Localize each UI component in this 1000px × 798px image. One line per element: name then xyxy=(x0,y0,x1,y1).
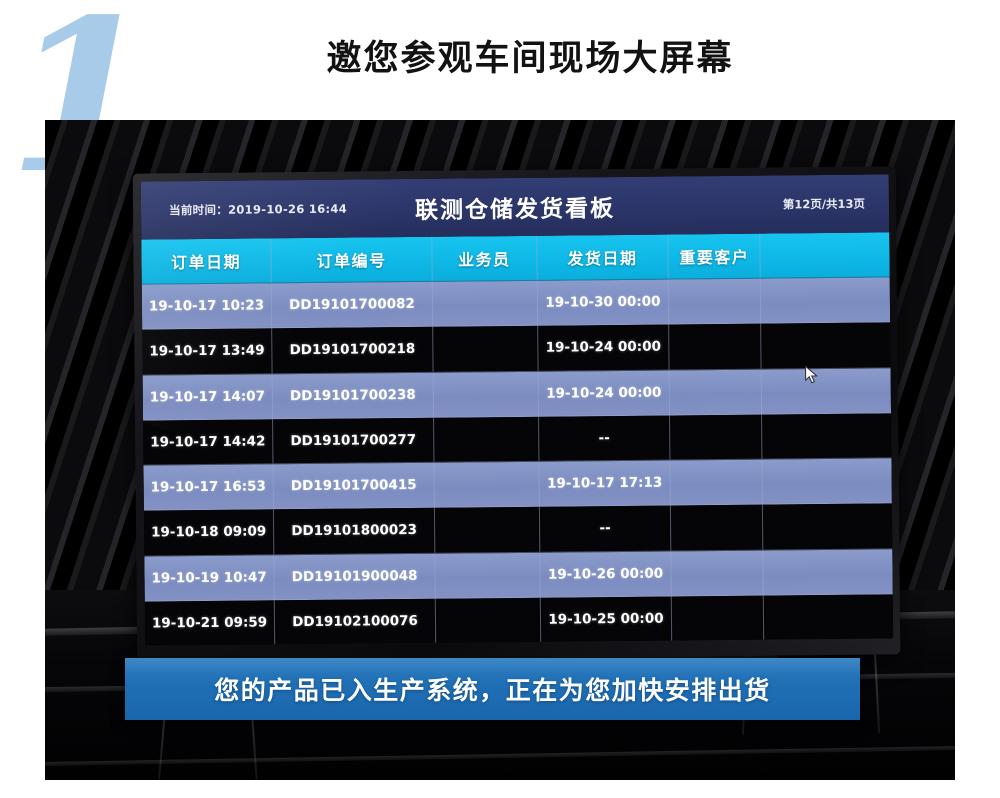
bottom-banner-text: 您的产品已入生产系统，正在为您加快安排出货 xyxy=(214,671,771,707)
table-row: 19-10-17 16:53 DD19101700415 19-10-17 17… xyxy=(143,458,891,510)
cell-order-date: 19-10-17 10:23 xyxy=(142,283,273,328)
cell-order-number: DD19101700277 xyxy=(273,418,434,464)
page-title: 邀您参观车间现场大屏幕 xyxy=(0,30,1000,81)
cell-key-customer xyxy=(670,369,762,414)
display-bezel: 当前时间：2019-10-26 16:44 联测仓储发货看板 第12页/共13页… xyxy=(133,166,901,661)
cell-salesperson xyxy=(435,507,540,552)
cell-order-date: 19-10-17 16:53 xyxy=(143,464,274,509)
cell-ship-date: 19-10-26 00:00 xyxy=(540,551,672,597)
cell-order-date: 19-10-17 13:49 xyxy=(142,329,273,374)
cell-salesperson xyxy=(435,552,540,597)
cell-order-number: DD19101900048 xyxy=(274,553,435,599)
wall-mounted-display: 当前时间：2019-10-26 16:44 联测仓储发货看板 第12页/共13页… xyxy=(133,166,901,661)
cell-extra xyxy=(761,277,890,322)
cell-extra xyxy=(762,413,891,458)
pagination-indicator: 第12页/共13页 xyxy=(783,196,865,213)
cell-order-number: DD19101700415 xyxy=(274,463,435,509)
cell-salesperson xyxy=(434,417,539,462)
table-row: 19-10-21 09:59 DD19102100076 19-10-25 00… xyxy=(145,594,893,645)
cell-ship-date: 19-10-24 00:00 xyxy=(538,325,670,371)
cell-key-customer xyxy=(672,550,764,595)
cell-order-number: DD19101700238 xyxy=(273,372,434,418)
cell-salesperson xyxy=(434,462,539,507)
cell-order-date: 19-10-21 09:59 xyxy=(145,600,276,645)
table-row: 19-10-17 13:49 DD19101700218 19-10-24 00… xyxy=(142,323,890,375)
cell-key-customer xyxy=(671,505,763,550)
cell-salesperson xyxy=(436,598,541,643)
cell-key-customer xyxy=(672,595,764,640)
table-row: 19-10-17 14:42 DD19101700277 -- xyxy=(143,413,891,465)
shipping-table: 订单日期 订单编号 业务员 发货日期 重要客户 19-10-17 10:23 D… xyxy=(141,232,893,645)
table-row: 19-10-19 10:47 DD19101900048 19-10-26 00… xyxy=(144,549,892,601)
cell-ship-date: -- xyxy=(539,415,671,461)
table-header-row: 订单日期 订单编号 业务员 发货日期 重要客户 xyxy=(141,232,889,284)
cell-salesperson xyxy=(433,326,538,371)
cell-order-number: DD19101700082 xyxy=(272,282,433,328)
cell-extra xyxy=(764,594,893,639)
cell-salesperson xyxy=(433,281,538,326)
column-header-order-number: 订单编号 xyxy=(271,237,432,283)
cell-ship-date: 19-10-30 00:00 xyxy=(537,280,669,326)
cell-order-number: DD19101700218 xyxy=(272,327,433,373)
table-row: 19-10-17 10:23 DD19101700082 19-10-30 00… xyxy=(142,277,890,329)
cell-key-customer xyxy=(669,279,761,324)
cell-order-date: 19-10-17 14:42 xyxy=(143,419,274,464)
cell-key-customer xyxy=(669,324,761,369)
cell-extra xyxy=(761,323,890,368)
table-row: 19-10-17 14:07 DD19101700238 19-10-24 00… xyxy=(143,368,891,420)
cell-extra xyxy=(763,504,892,549)
cell-ship-date: 19-10-24 00:00 xyxy=(538,370,670,416)
cell-key-customer xyxy=(671,460,763,505)
column-header-ship-date: 发货日期 xyxy=(537,235,669,280)
dashboard-header: 当前时间：2019-10-26 16:44 联测仓储发货看板 第12页/共13页 xyxy=(141,174,890,239)
table-row: 19-10-18 09:09 DD19101800023 -- xyxy=(144,504,892,556)
column-header-order-date: 订单日期 xyxy=(141,238,272,283)
cell-ship-date: 19-10-17 17:13 xyxy=(539,461,671,507)
mouse-cursor-icon xyxy=(805,365,821,385)
cell-order-number: DD19102100076 xyxy=(275,599,436,645)
column-header-salesperson: 业务员 xyxy=(432,236,537,281)
cell-extra xyxy=(763,458,892,503)
cell-ship-date: -- xyxy=(540,506,672,552)
cell-order-number: DD19101800023 xyxy=(274,508,435,554)
column-header-key-customer: 重要客户 xyxy=(669,234,761,279)
bottom-banner: 您的产品已入生产系统，正在为您加快安排出货 xyxy=(125,658,860,720)
cell-order-date: 19-10-19 10:47 xyxy=(144,555,275,600)
cell-key-customer xyxy=(670,414,762,459)
display-screen: 当前时间：2019-10-26 16:44 联测仓储发货看板 第12页/共13页… xyxy=(141,174,893,645)
column-header-extra xyxy=(761,232,890,277)
dashboard-title: 联测仓储发货看板 xyxy=(141,186,889,227)
cell-ship-date: 19-10-25 00:00 xyxy=(540,596,672,642)
cell-order-date: 19-10-18 09:09 xyxy=(144,510,275,555)
warehouse-shipping-dashboard: 当前时间：2019-10-26 16:44 联测仓储发货看板 第12页/共13页… xyxy=(141,174,893,645)
cell-salesperson xyxy=(434,371,539,416)
cell-extra xyxy=(762,368,891,413)
cell-order-date: 19-10-17 14:07 xyxy=(143,374,274,419)
cell-extra xyxy=(764,549,893,594)
